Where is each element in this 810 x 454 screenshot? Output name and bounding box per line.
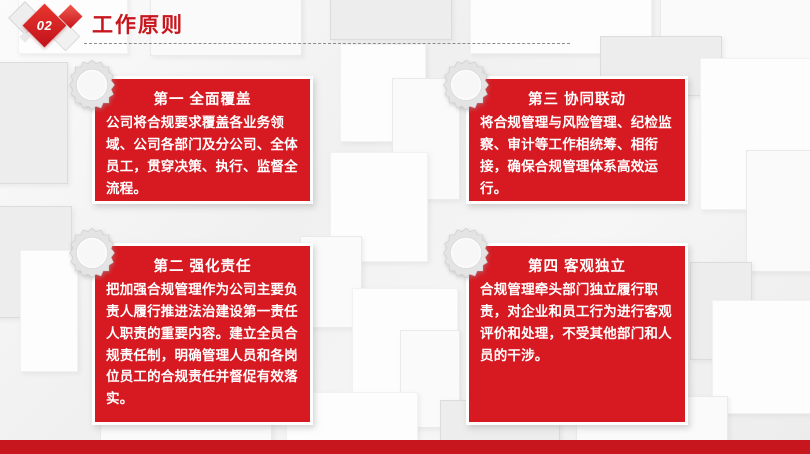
- slide-header: 02 工作原则: [0, 0, 810, 52]
- bg-block: [746, 150, 810, 272]
- principle-card-1[interactable]: 第一 全面覆盖 公司将合规要求覆盖各业务领域、公司各部门及分公司、全体员工，贯穿…: [92, 76, 313, 204]
- card-body: 合规管理牵头部门独立履行职责，对企业和员工行为进行客观评价和处理，不受其他部门和…: [469, 279, 685, 372]
- principle-card-2[interactable]: 第二 强化责任 把加强合规管理作为公司主要负责人履行推进法治建设第一责任人职责的…: [92, 243, 313, 425]
- bg-block: [0, 62, 68, 184]
- bg-block: [20, 250, 78, 372]
- header-dashed-divider: [84, 43, 570, 44]
- card-title: 第一 全面覆盖: [95, 88, 310, 109]
- card-body: 将合规管理与风险管理、纪检监察、审计等工作相统筹、相衔接，确保合规管理体系高效运…: [469, 112, 685, 205]
- card-body: 公司将合规要求覆盖各业务领域、公司各部门及分公司、全体员工，贯穿决策、执行、监督…: [95, 112, 310, 205]
- card-title: 第三 协同联动: [469, 88, 685, 109]
- slide-canvas: 02 工作原则 第一 全面覆盖 公司将合规要求覆盖各业务领域、公司各部门及分公司…: [0, 0, 810, 454]
- card-title: 第四 客观独立: [469, 255, 685, 276]
- page-title: 工作原则: [92, 9, 184, 39]
- section-number: 02: [29, 10, 60, 41]
- card-body: 把加强合规管理作为公司主要负责人履行推进法治建设第一责任人职责的重要内容。建立全…: [95, 279, 310, 416]
- principle-card-3[interactable]: 第三 协同联动 将合规管理与风险管理、纪检监察、审计等工作相统筹、相衔接，确保合…: [466, 76, 688, 204]
- bottom-accent-bar: [0, 440, 810, 454]
- principle-card-4[interactable]: 第四 客观独立 合规管理牵头部门独立履行职责，对企业和员工行为进行客观评价和处理…: [466, 243, 688, 425]
- card-title: 第二 强化责任: [95, 255, 310, 276]
